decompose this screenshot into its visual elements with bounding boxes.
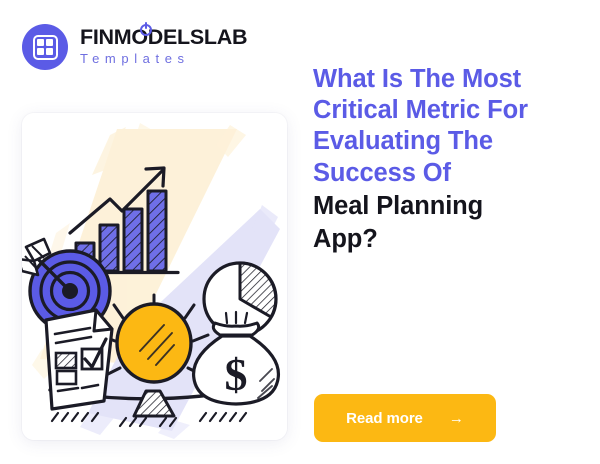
bag-tie [213,323,258,335]
headline-accent-line-2: Critical Metric For [313,95,581,126]
brand-tagline: Templates [80,50,247,68]
analytics-illustration: $ [22,113,287,440]
brand-text: FINMODELSLAB Templates [80,26,247,68]
headline-accent-line-1: What Is The Most [313,64,581,95]
brand-name: FINMODELSLAB [80,26,247,49]
power-icon [140,24,152,36]
illustration-card: $ [22,113,287,440]
arrow-right-icon: → [449,411,464,426]
brand-logo[interactable]: FINMODELSLAB Templates [22,24,247,70]
promo-banner: FINMODELSLAB Templates [0,0,600,464]
read-more-label: Read more [346,410,423,427]
headline: What Is The Most Critical Metric For Eva… [313,64,581,255]
headline-dark-line-2: App? [313,224,581,255]
dollar-icon: $ [225,349,248,400]
hatched-block [56,353,76,368]
idea-coin [100,295,208,382]
brand-name-label: FINMODELSLAB [80,25,247,49]
headline-accent-line-3: Evaluating The [313,126,581,157]
read-more-button[interactable]: Read more → [314,394,496,442]
headline-accent-line-4: Success Of [313,158,581,189]
grid-square-icon [22,24,68,70]
document-checklist [46,310,112,409]
headline-dark-line-1: Meal Planning [313,191,581,222]
